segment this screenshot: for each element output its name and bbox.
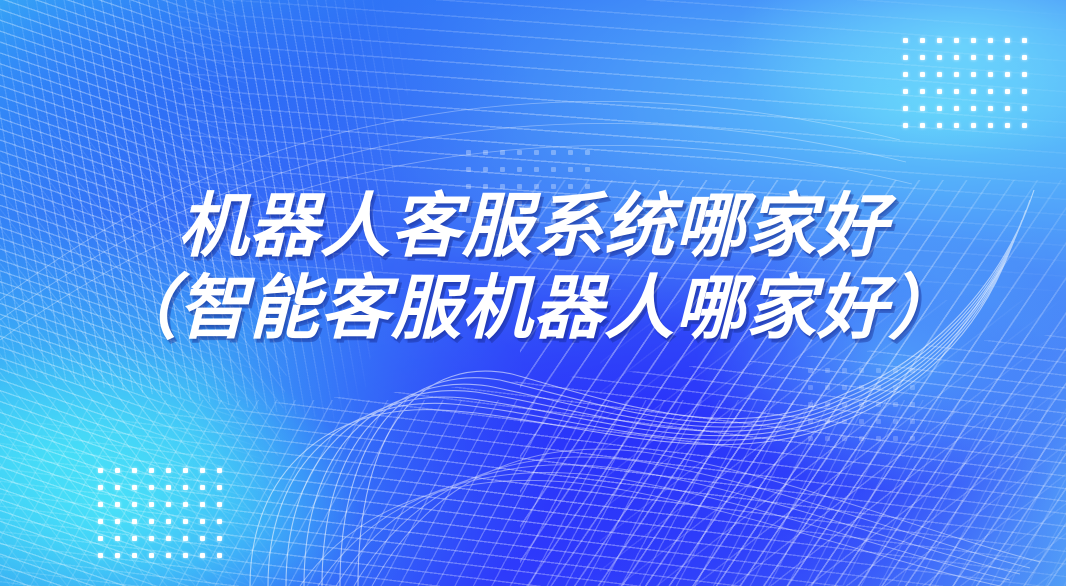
dot (132, 485, 137, 490)
dot (166, 485, 171, 490)
dot (183, 502, 188, 507)
headline-line-2: （智能客服机器人哪家好） (0, 268, 1066, 352)
dot (98, 553, 103, 558)
dot (842, 368, 847, 373)
dot (217, 519, 222, 524)
dot (149, 536, 154, 541)
dot (534, 167, 539, 172)
dot (183, 485, 188, 490)
dot (149, 502, 154, 507)
dot-grid-bottom-left (98, 468, 222, 558)
dot (903, 89, 908, 94)
dot (859, 385, 864, 390)
dot (217, 502, 222, 507)
dot (166, 468, 171, 473)
dot (971, 123, 976, 128)
dot (132, 553, 137, 558)
dot (954, 55, 959, 60)
dot (971, 72, 976, 77)
dot (183, 553, 188, 558)
dot (988, 38, 993, 43)
dot (859, 402, 864, 407)
dot (115, 502, 120, 507)
dot (920, 106, 925, 111)
dot (971, 89, 976, 94)
dot (149, 485, 154, 490)
dot (1005, 106, 1010, 111)
dot (808, 436, 813, 441)
dot (166, 502, 171, 507)
dot (893, 402, 898, 407)
dot (500, 167, 505, 172)
dot (903, 55, 908, 60)
dot (937, 106, 942, 111)
dot (517, 167, 522, 172)
headline-block: 机器人客服系统哪家好 （智能客服机器人哪家好） (0, 186, 1066, 352)
dot (500, 150, 505, 155)
dot (910, 385, 915, 390)
dot (149, 519, 154, 524)
dot (971, 55, 976, 60)
dot (920, 72, 925, 77)
dot (115, 485, 120, 490)
dot (937, 38, 942, 43)
dot (1005, 38, 1010, 43)
dot (1005, 123, 1010, 128)
dot (1022, 38, 1027, 43)
dot (98, 519, 103, 524)
dot (466, 167, 471, 172)
dot (1005, 55, 1010, 60)
dot (920, 38, 925, 43)
dot (903, 72, 908, 77)
dot (98, 468, 103, 473)
dot (988, 106, 993, 111)
dot (808, 368, 813, 373)
dot (954, 106, 959, 111)
dot (132, 502, 137, 507)
dot (166, 536, 171, 541)
dot (910, 402, 915, 407)
dot (842, 402, 847, 407)
dot (98, 502, 103, 507)
dot (466, 150, 471, 155)
dot (954, 123, 959, 128)
dot (876, 419, 881, 424)
dot (876, 402, 881, 407)
dot (217, 536, 222, 541)
dot (825, 419, 830, 424)
dot (876, 368, 881, 373)
dot (217, 485, 222, 490)
dot (217, 468, 222, 473)
dot (1005, 89, 1010, 94)
dot (937, 89, 942, 94)
dot (1005, 72, 1010, 77)
dot (132, 519, 137, 524)
dot (842, 385, 847, 390)
dot (859, 436, 864, 441)
dot (920, 55, 925, 60)
dot (98, 536, 103, 541)
dot (149, 468, 154, 473)
dot (971, 38, 976, 43)
dot (1022, 89, 1027, 94)
dot (808, 385, 813, 390)
dot (183, 468, 188, 473)
dot (971, 106, 976, 111)
dot (115, 519, 120, 524)
dot (166, 519, 171, 524)
dot (903, 106, 908, 111)
dot (585, 167, 590, 172)
dot (910, 368, 915, 373)
dot (859, 368, 864, 373)
dot (954, 72, 959, 77)
dot (217, 553, 222, 558)
dot (1022, 72, 1027, 77)
dot (166, 553, 171, 558)
dot (825, 368, 830, 373)
dot (183, 536, 188, 541)
dot (483, 167, 488, 172)
dot (1022, 55, 1027, 60)
dot (200, 485, 205, 490)
headline-line-1: 机器人客服系统哪家好 (0, 186, 1066, 270)
dot (825, 385, 830, 390)
dot (876, 436, 881, 441)
dot (893, 436, 898, 441)
dot (132, 468, 137, 473)
dot (937, 55, 942, 60)
dot (534, 150, 539, 155)
dot (132, 536, 137, 541)
dot (568, 150, 573, 155)
dot (893, 419, 898, 424)
dot (200, 553, 205, 558)
dot (200, 536, 205, 541)
dot (937, 72, 942, 77)
dot (98, 485, 103, 490)
dot (920, 123, 925, 128)
dot (842, 436, 847, 441)
dot (149, 553, 154, 558)
dot (910, 419, 915, 424)
promo-banner: 机器人客服系统哪家好 （智能客服机器人哪家好） (0, 0, 1066, 586)
dot (954, 89, 959, 94)
dot (825, 402, 830, 407)
dot (903, 123, 908, 128)
dot (585, 150, 590, 155)
dot (859, 419, 864, 424)
dot (842, 419, 847, 424)
dot (825, 436, 830, 441)
dot (988, 55, 993, 60)
dot (1022, 106, 1027, 111)
dot (910, 436, 915, 441)
dot (876, 385, 881, 390)
dot (551, 167, 556, 172)
dot (1022, 123, 1027, 128)
dot (893, 368, 898, 373)
dot (568, 167, 573, 172)
dot (115, 536, 120, 541)
dot (200, 468, 205, 473)
dot (808, 419, 813, 424)
dot (988, 123, 993, 128)
dot (200, 519, 205, 524)
dot-grid-top-right (903, 38, 1027, 128)
dot (808, 402, 813, 407)
dot-grid-lower-right (808, 368, 915, 441)
dot (183, 519, 188, 524)
dot (517, 150, 522, 155)
dot (551, 150, 556, 155)
dot (483, 150, 488, 155)
dot (988, 89, 993, 94)
dot (893, 385, 898, 390)
dot (954, 38, 959, 43)
dot (937, 123, 942, 128)
dot (200, 502, 205, 507)
dot (988, 72, 993, 77)
dot (903, 38, 908, 43)
dot (920, 89, 925, 94)
dot (115, 553, 120, 558)
dot (115, 468, 120, 473)
